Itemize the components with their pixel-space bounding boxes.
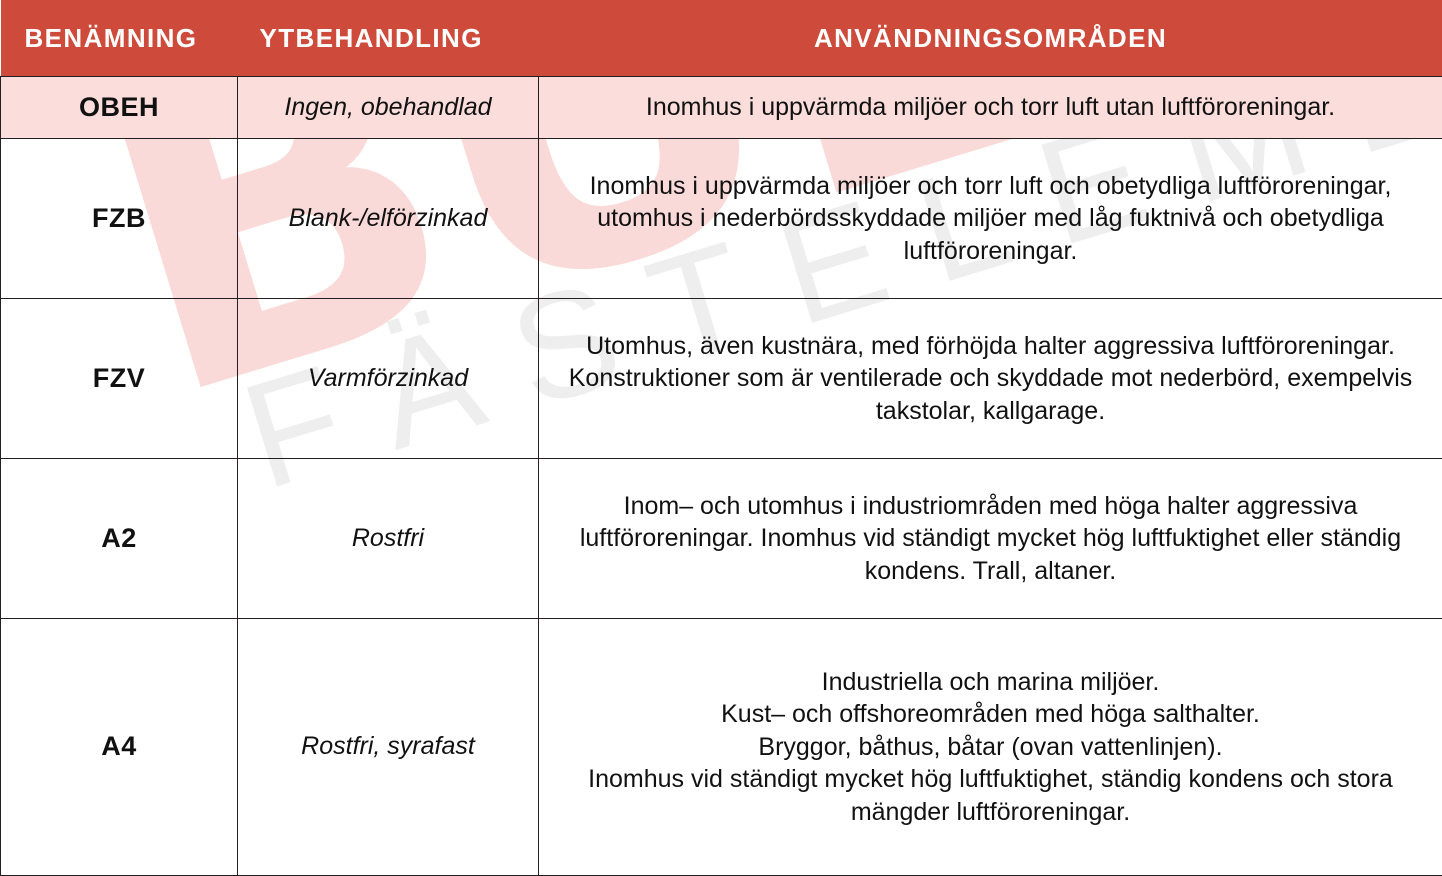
cell-usage-areas: Utomhus, även kustnära, med förhöjda hal…: [539, 299, 1442, 459]
table-header-row: BENÄMNING YTBEHANDLING ANVÄNDNINGSOMRÅDE…: [1, 0, 1442, 77]
table-row: A2 Rostfri Inom– och utomhus i industrio…: [1, 458, 1442, 618]
table-body: OBEH Ingen, obehandlad Inomhus i uppvärm…: [1, 77, 1442, 876]
column-header-benamning: BENÄMNING: [1, 0, 238, 77]
cell-surface-treatment: Ingen, obehandlad: [238, 77, 539, 139]
cell-code: A2: [1, 458, 238, 618]
cell-code: OBEH: [1, 77, 238, 139]
cell-usage-areas: Industriella och marina miljöer.Kust– oc…: [539, 618, 1442, 875]
cell-surface-treatment: Varmförzinkad: [238, 299, 539, 459]
cell-surface-treatment: Blank-/elförzinkad: [238, 139, 539, 299]
table-row: FZB Blank-/elförzinkad Inomhus i uppvärm…: [1, 139, 1442, 299]
table-header: BENÄMNING YTBEHANDLING ANVÄNDNINGSOMRÅDE…: [1, 0, 1442, 77]
cell-usage-areas: Inomhus i uppvärmda miljöer och torr luf…: [539, 77, 1442, 139]
cell-code: FZB: [1, 139, 238, 299]
table-row: A4 Rostfri, syrafast Industriella och ma…: [1, 618, 1442, 875]
table-page: BULTAB FÄSTELEMENT BENÄMNING YTBEHANDLIN…: [0, 0, 1442, 876]
surface-treatment-table: BENÄMNING YTBEHANDLING ANVÄNDNINGSOMRÅDE…: [0, 0, 1442, 876]
surface-treatment-table-container: BENÄMNING YTBEHANDLING ANVÄNDNINGSOMRÅDE…: [0, 0, 1442, 876]
table-row: FZV Varmförzinkad Utomhus, även kustnära…: [1, 299, 1442, 459]
cell-surface-treatment: Rostfri, syrafast: [238, 618, 539, 875]
table-row: OBEH Ingen, obehandlad Inomhus i uppvärm…: [1, 77, 1442, 139]
cell-surface-treatment: Rostfri: [238, 458, 539, 618]
cell-code: A4: [1, 618, 238, 875]
cell-usage-areas: Inomhus i uppvärmda miljöer och torr luf…: [539, 139, 1442, 299]
column-header-anvandningsomraden: ANVÄNDNINGSOMRÅDEN: [539, 0, 1442, 77]
cell-usage-areas: Inom– och utomhus i industriområden med …: [539, 458, 1442, 618]
column-header-ytbehandling: YTBEHANDLING: [238, 0, 539, 77]
cell-code: FZV: [1, 299, 238, 459]
